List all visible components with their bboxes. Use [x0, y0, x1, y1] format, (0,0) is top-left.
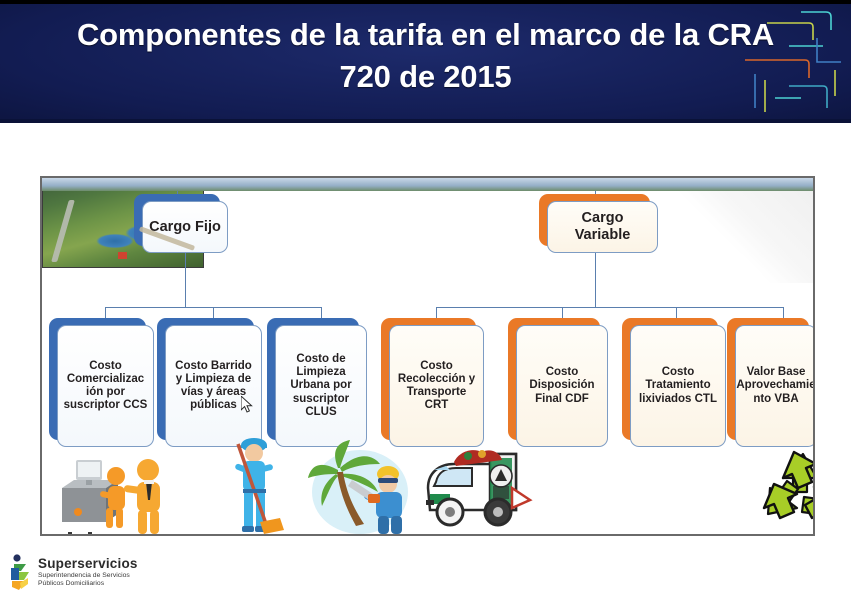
photo-sky	[42, 178, 204, 191]
node-label: Costo Tratamiento lixiviados CTL	[630, 325, 726, 447]
node-costo-tratamiento-lixiviados[interactable]: Costo Tratamiento lixiviados CTL	[622, 318, 718, 440]
connector-fijo-stem	[185, 253, 186, 307]
photo-road	[51, 200, 75, 262]
node-label: Costo Disposición Final CDF	[516, 325, 608, 447]
photo-building	[118, 252, 127, 259]
superservicios-logo-icon	[8, 554, 34, 592]
header-underline	[0, 119, 851, 123]
garbage-truck-image	[420, 436, 536, 534]
node-valor-base-aprovechamiento[interactable]: Valor Base Aprovechamie nto VBA	[727, 318, 809, 440]
node-costo-recoleccion-transporte[interactable]: Costo Recolección y Transporte CRT	[381, 318, 476, 440]
logo-subtitle: Superintendencia de Servicios Públicos D…	[38, 572, 138, 588]
node-label: Costo de Limpieza Urbana por suscriptor …	[275, 325, 367, 447]
node-costo-barrido-limpieza[interactable]: Costo Barrido y Limpieza de vías y áreas…	[157, 318, 254, 440]
connector-var-stem	[595, 253, 596, 307]
diagram-panel: Cargo Fijo Cargo Variable Costo Comercia…	[40, 176, 815, 536]
node-label: Costo Comercializac ión por suscriptor C…	[57, 325, 154, 447]
node-cargo-variable-label: Cargo Variable	[547, 201, 658, 253]
connector-fijo-leaf3	[321, 307, 322, 318]
node-label: Costo Recolección y Transporte CRT	[389, 325, 484, 447]
bottom-strip	[0, 596, 851, 600]
connector-fijo-leaf1	[105, 307, 106, 318]
connector-var-bus	[436, 307, 783, 308]
node-cargo-variable[interactable]: Cargo Variable	[539, 194, 650, 246]
recycling-symbol-image	[760, 450, 815, 532]
page-title: Componentes de la tarifa en el marco de …	[0, 14, 851, 98]
slide-footer: Superservicios Superintendencia de Servi…	[0, 552, 851, 600]
node-label: Valor Base Aprovechamie nto VBA	[735, 325, 815, 447]
node-cargo-fijo[interactable]: Cargo Fijo	[134, 194, 220, 246]
logo-title: Superservicios	[38, 556, 138, 571]
panel-corner-shading	[678, 178, 813, 283]
slide-header: Componentes de la tarifa en el marco de …	[0, 0, 851, 123]
connector-var-leaf3	[676, 307, 677, 318]
slide: Componentes de la tarifa en el marco de …	[0, 0, 851, 600]
street-sweeper-image	[210, 436, 296, 536]
node-costo-disposicion-final[interactable]: Costo Disposición Final CDF	[508, 318, 600, 440]
node-costo-limpieza-urbana[interactable]: Costo de Limpieza Urbana por suscriptor …	[267, 318, 359, 440]
office-workers-image	[60, 454, 182, 536]
superservicios-logo-text: Superservicios Superintendencia de Servi…	[38, 556, 138, 588]
node-costo-comercializacion[interactable]: Costo Comercializac ión por suscriptor C…	[49, 318, 146, 440]
connector-var-leaf1	[436, 307, 437, 318]
connector-var-leaf4	[783, 307, 784, 318]
mouse-cursor-icon	[241, 396, 253, 414]
node-label: Costo Barrido y Limpieza de vías y áreas…	[165, 325, 262, 447]
connector-fijo-leaf2	[213, 307, 214, 318]
tree-trimming-image	[304, 440, 410, 536]
connector-var-leaf2	[562, 307, 563, 318]
